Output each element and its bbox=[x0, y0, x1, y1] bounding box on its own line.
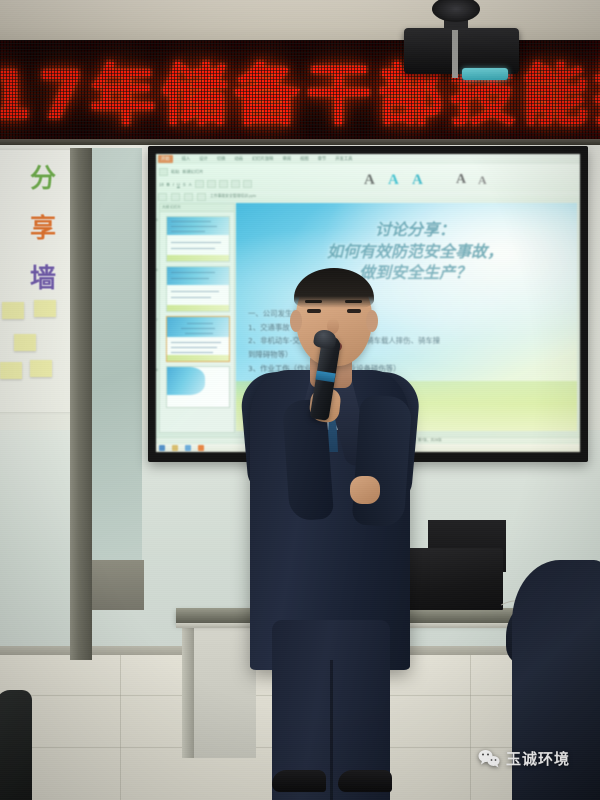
print-icon[interactable] bbox=[197, 193, 206, 201]
wordart-style-4[interactable]: A bbox=[456, 172, 466, 188]
align-right-icon[interactable] bbox=[219, 180, 228, 188]
folder-icon[interactable] bbox=[172, 445, 178, 451]
sharing-wall-char-0: 分 bbox=[22, 158, 64, 195]
slide-title-line-1: 讨论分享： bbox=[270, 219, 560, 241]
laptop bbox=[405, 548, 503, 610]
ppt-tab-slideshow[interactable]: 幻灯片放映 bbox=[252, 156, 273, 162]
table-leg-left bbox=[182, 628, 194, 758]
ppt-tab-view[interactable]: 视图 bbox=[300, 156, 309, 162]
slide-thumbnail-current[interactable] bbox=[166, 316, 230, 362]
thumbnail-number: 7 bbox=[156, 318, 158, 322]
sharing-wall-char-2: 墙 bbox=[22, 258, 64, 295]
wordart-style-3[interactable]: A bbox=[412, 172, 423, 189]
sticky-note bbox=[0, 362, 22, 379]
ppt-tab-review[interactable]: 审阅 bbox=[282, 156, 291, 162]
save-icon[interactable] bbox=[158, 193, 167, 201]
thumbnail-number: 5 bbox=[156, 218, 158, 222]
table-modesty-panel bbox=[186, 628, 256, 758]
eye-right bbox=[347, 309, 361, 313]
underline-icon[interactable]: U bbox=[177, 182, 180, 187]
ear-left bbox=[290, 310, 302, 332]
align-left-icon[interactable] bbox=[195, 180, 204, 188]
ppt-tab-transitions[interactable]: 切换 bbox=[217, 156, 226, 162]
door-glass-panel bbox=[92, 148, 142, 608]
sharing-wall-char-1: 享 bbox=[22, 208, 64, 245]
door-kick-plate bbox=[92, 560, 144, 610]
banner-bottom-lip bbox=[0, 139, 600, 145]
eye-left bbox=[307, 309, 321, 313]
shoe-left bbox=[272, 770, 326, 792]
ear-right bbox=[366, 310, 378, 332]
projector-lens bbox=[462, 68, 508, 80]
sticky-note bbox=[34, 300, 56, 317]
wordart-style-1[interactable]: A bbox=[364, 172, 375, 189]
ppt-tab-animations[interactable]: 动画 bbox=[234, 156, 243, 162]
newslide-label[interactable]: 新建幻灯片 bbox=[182, 169, 203, 175]
paste-icon[interactable] bbox=[159, 168, 168, 176]
align-center-icon[interactable] bbox=[207, 180, 216, 188]
wps-presentation-icon[interactable] bbox=[198, 445, 204, 451]
slide-thumbnail-panel[interactable]: 大纲 幻灯片 5 6 bbox=[159, 203, 235, 433]
sticky-note bbox=[2, 302, 24, 319]
ppt-tab-section[interactable]: 章节 bbox=[318, 156, 327, 162]
audience-chair bbox=[0, 690, 32, 800]
paste-label: 粘贴 bbox=[171, 169, 179, 175]
arm-right bbox=[352, 394, 413, 527]
document-name: 工作事故安全管理培训.pptx bbox=[210, 194, 256, 199]
text-color-icon[interactable]: A bbox=[189, 182, 192, 187]
wordart-style-5[interactable]: A bbox=[478, 173, 487, 188]
slide-title-line-2: 如何有效防范安全事故， bbox=[270, 241, 560, 263]
door-frame bbox=[70, 148, 92, 660]
redo-icon[interactable] bbox=[184, 193, 193, 201]
font-size-value[interactable]: 18 bbox=[159, 182, 164, 187]
thumbnail-number: 6 bbox=[156, 268, 158, 272]
slide-thumbnail[interactable] bbox=[166, 266, 230, 312]
slide-thumbnail[interactable] bbox=[166, 366, 230, 408]
wechat-icon bbox=[478, 749, 500, 768]
ppt-ribbon[interactable]: 粘贴 新建幻灯片 18 B I U S A A A bbox=[156, 164, 580, 193]
start-button-icon[interactable] bbox=[159, 445, 165, 451]
ppt-menu-bar[interactable]: 开始 插入 设计 切换 动画 幻灯片放映 审阅 视图 章节 开发工具 bbox=[156, 154, 580, 164]
projector-arm bbox=[452, 30, 458, 78]
thumbnail-number: 8 bbox=[156, 368, 158, 372]
ppt-tab-devtools[interactable]: 开发工具 bbox=[335, 156, 352, 162]
wordart-style-2[interactable]: A bbox=[388, 172, 399, 189]
browser-icon[interactable] bbox=[185, 445, 191, 451]
eyebrow-left bbox=[305, 300, 322, 303]
italic-icon[interactable]: I bbox=[173, 182, 174, 187]
watermark-brand-text: 玉诚环境 bbox=[506, 748, 570, 769]
trouser-leg-divide bbox=[330, 660, 333, 800]
shoe-right bbox=[338, 770, 392, 792]
hand-right bbox=[350, 476, 380, 504]
ppt-tab-design[interactable]: 设计 bbox=[199, 156, 208, 162]
sticky-note bbox=[30, 360, 52, 377]
slide-bullet: 2、非机动车-交通事故（骑车摔伤、骑车载人摔伤、骑车撞 bbox=[248, 334, 570, 348]
thumbnail-panel-header: 大纲 幻灯片 bbox=[160, 204, 234, 212]
eyebrow-right bbox=[345, 300, 362, 303]
bullet-list-icon[interactable] bbox=[231, 180, 240, 188]
ppt-tab-insert[interactable]: 插入 bbox=[182, 156, 191, 162]
undo-icon[interactable] bbox=[171, 193, 180, 201]
strikethrough-icon[interactable]: S bbox=[183, 182, 186, 187]
numbered-list-icon[interactable] bbox=[243, 180, 252, 188]
slide-bullet: 到障碍物等） bbox=[248, 348, 570, 362]
photo-scene: 分 享 墙 17年储备干部技能提 开始 插入 设计 切换 动画 幻灯片放映 审阅 bbox=[0, 0, 600, 800]
bold-icon[interactable]: B bbox=[167, 182, 170, 187]
sticky-note bbox=[14, 334, 36, 351]
wechat-watermark: 玉诚环境 bbox=[478, 748, 570, 769]
ppt-tab-home[interactable]: 开始 bbox=[158, 155, 173, 163]
slide-thumbnail[interactable] bbox=[166, 216, 230, 262]
